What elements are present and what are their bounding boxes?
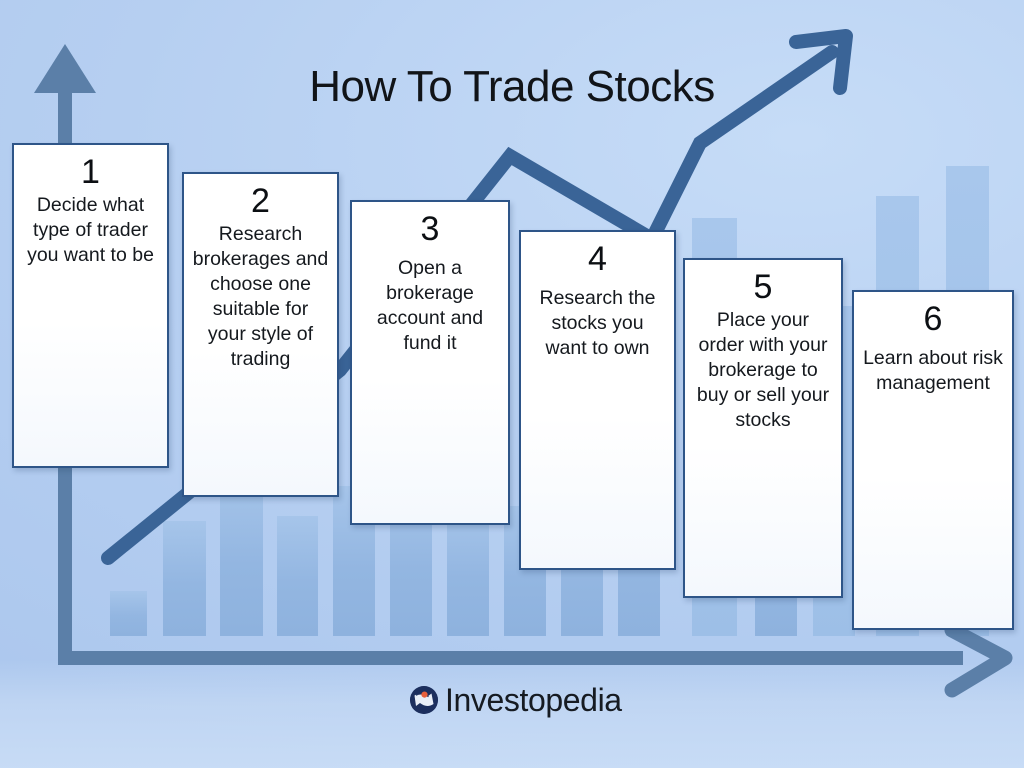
bar	[277, 516, 318, 636]
step-number: 3	[358, 210, 502, 248]
infographic-canvas: How To Trade Stocks 1 Decide what type o…	[0, 0, 1024, 768]
step-text: Research brokerages and choose one suita…	[190, 222, 331, 372]
bar	[447, 506, 489, 636]
step-text: Learn about risk management	[860, 340, 1006, 396]
step-text: Decide what type of trader you want to b…	[20, 193, 161, 268]
bar	[163, 521, 206, 636]
bar	[110, 591, 147, 636]
bar	[220, 476, 263, 636]
investopedia-logo[interactable]: Investopedia	[410, 680, 622, 720]
step-card-6[interactable]: 6 Learn about risk management	[852, 290, 1014, 630]
step-number: 1	[20, 153, 161, 191]
step-text: Open a brokerage account and fund it	[358, 250, 502, 356]
step-card-2[interactable]: 2 Research brokerages and choose one sui…	[182, 172, 339, 497]
step-number: 4	[527, 240, 668, 278]
step-number: 5	[691, 268, 835, 306]
investopedia-wordmark: Investopedia	[445, 684, 622, 716]
page-title: How To Trade Stocks	[0, 62, 1024, 112]
step-card-1[interactable]: 1 Decide what type of trader you want to…	[12, 143, 169, 468]
step-number: 6	[860, 300, 1006, 338]
step-card-5[interactable]: 5 Place your order with your brokerage t…	[683, 258, 843, 598]
step-card-4[interactable]: 4 Research the stocks you want to own	[519, 230, 676, 570]
step-card-3[interactable]: 3 Open a brokerage account and fund it	[350, 200, 510, 525]
step-number: 2	[190, 182, 331, 220]
step-text: Place your order with your brokerage to …	[691, 308, 835, 433]
step-text: Research the stocks you want to own	[527, 280, 668, 361]
investopedia-circle-logo-icon	[410, 686, 438, 714]
